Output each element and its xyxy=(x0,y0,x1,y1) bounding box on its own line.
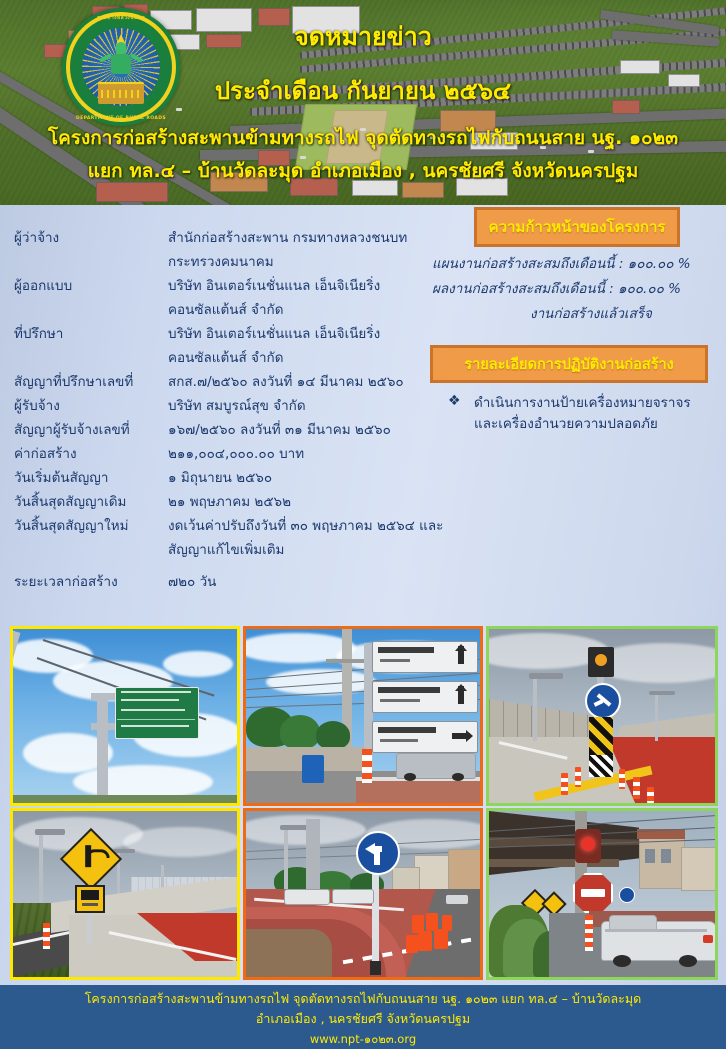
info-value-contract-end-new: งดเว้นค่าปรับถึงวันที่ ๓๐ พฤษภาคม ๒๕๖๔ แ… xyxy=(168,514,443,536)
info-label-contract-end-new: วันสิ้นสุดสัญญาใหม่ xyxy=(14,514,129,536)
page-footer: โครงการก่อสร้างสะพานข้ามทางรถไฟ จุดตัดทา… xyxy=(0,985,726,1049)
info-value-contract-end-new-cont: สัญญาแก้ไขเพิ่มเติม xyxy=(168,538,284,560)
info-value-employer-cont: กระทรวงคมนาคม xyxy=(168,250,274,272)
newsletter-page: กรมทางหลวงชนบท DEPARTMENT OF RURAL ROADS… xyxy=(0,0,726,1049)
info-label-contract-start: วันเริ่มต้นสัญญา xyxy=(14,466,108,488)
progress-status-line: งานก่อสร้างแล้วเสร็จ xyxy=(530,302,652,324)
project-title-line1: โครงการก่อสร้างสะพานข้ามทางรถไฟ จุดตัดทา… xyxy=(0,123,726,153)
info-value-contract-end-original: ๒๑ พฤษภาคม ๒๕๖๒ xyxy=(168,490,291,512)
info-label-consultant-contract: สัญญาที่ปรึกษาเลขที่ xyxy=(14,370,133,392)
emblem-label-english: DEPARTMENT OF RURAL ROADS xyxy=(62,116,180,121)
floret-bullet-icon: ❖ xyxy=(448,393,461,409)
info-value-duration: ๗๒๐ วัน xyxy=(168,570,216,592)
newsletter-title: จดหมายข่าว xyxy=(0,17,726,57)
info-label-contract-end-original: วันสิ้นสุดสัญญาเดิม xyxy=(14,490,126,512)
info-value-contractor-contract: ๑๖๗/๒๕๖๐ ลงวันที่ ๓๑ มีนาคม ๒๕๖๐ xyxy=(168,418,391,440)
photo-stop-help-sign xyxy=(486,808,718,980)
photo-direction-signs xyxy=(243,626,483,806)
footer-project-line2: อำเภอเมือง , นครชัยศรี จังหวัดนครปฐม xyxy=(0,1009,726,1029)
progress-heading-label: ความก้าวหน้าของโครงการ xyxy=(489,215,666,239)
speed-limit-sign-icon xyxy=(75,885,105,913)
info-value-contract-start: ๑ มิถุนายน ๒๕๖๐ xyxy=(168,466,272,488)
info-label-duration: ระยะเวลาก่อสร้าง xyxy=(14,570,118,592)
details-heading-label: รายละเอียดการปฏิบัติงานก่อสร้าง xyxy=(464,353,673,376)
photo-overhead-green-sign xyxy=(10,626,240,806)
info-value-designer: บริษัท อินเตอร์เนชั่นแนล เอ็นจิเนียริ่ง xyxy=(168,274,380,296)
info-value-consultant: บริษัท อินเตอร์เนชั่นแนล เอ็นจิเนียริ่ง xyxy=(168,322,380,344)
photo-curve-warning-sign xyxy=(10,808,240,980)
info-label-contractor: ผู้รับจ้าง xyxy=(14,394,60,416)
project-title-line2: แยก ทล.๔ – บ้านวัดละมุด อำเภอเมือง , นคร… xyxy=(0,156,726,186)
newsletter-month: ประจำเดือน กันยายน ๒๕๖๔ xyxy=(0,71,726,110)
progress-plan-line: แผนงานก่อสร้างสะสมถึงเดือนนี้ : ๑๐๐.๐๐ % xyxy=(432,252,691,274)
info-label-contractor-contract: สัญญาผู้รับจ้างเลขที่ xyxy=(14,418,130,440)
traffic-light-icon xyxy=(588,647,614,677)
red-traffic-light-icon xyxy=(575,829,601,863)
info-value-construction-cost: ๒๑๑,๐๐๔,๐๐๐.๐๐ บาท xyxy=(168,442,304,464)
footer-website-url[interactable]: www.npt-๑๐๒๓.org xyxy=(0,1031,726,1049)
footer-project-line1: โครงการก่อสร้างสะพานข้ามทางรถไฟ จุดตัดทา… xyxy=(0,989,726,1009)
info-value-employer: สำนักก่อสร้างสะพาน กรมทางหลวงชนบท xyxy=(168,226,407,248)
info-label-construction-cost: ค่าก่อสร้าง xyxy=(14,442,77,464)
details-heading-box: รายละเอียดการปฏิบัติงานก่อสร้าง xyxy=(430,345,708,383)
blue-arrow-sign-icon xyxy=(585,683,621,719)
turn-left-sign-icon xyxy=(356,831,400,875)
progress-heading-box: ความก้าวหน้าของโครงการ xyxy=(474,207,680,247)
info-value-consultant-cont: คอนซัลแต้นส์ จำกัด xyxy=(168,346,283,368)
info-value-contractor: บริษัท สมบูรณ์สุข จำกัด xyxy=(168,394,306,416)
photo-turn-left-sign xyxy=(243,808,483,980)
info-value-consultant-contract: สกส.๗/๒๕๖๐ ลงวันที่ ๑๔ มีนาคม ๒๕๖๐ xyxy=(168,370,404,392)
stop-help-sign-icon xyxy=(573,873,613,913)
info-value-designer-cont: คอนซัลแต้นส์ จำกัด xyxy=(168,298,283,320)
info-label-consultant: ที่ปรึกษา xyxy=(14,322,63,344)
photo-gallery xyxy=(0,624,726,982)
progress-actual-line: ผลงานก่อสร้างสะสมถึงเดือนนี้ : ๑๐๐.๐๐ % xyxy=(432,277,681,299)
details-bullet-line1: ดำเนินการงานป้ายเครื่องหมายจราจร xyxy=(474,395,691,411)
photo-bridge-traffic-light xyxy=(486,626,718,806)
info-label-employer: ผู้ว่าจ้าง xyxy=(14,226,59,248)
details-bullet-line2: และเครื่องอำนวยความปลอดภัย xyxy=(474,416,658,432)
info-label-designer: ผู้ออกแบบ xyxy=(14,274,72,296)
header-banner: กรมทางหลวงชนบท DEPARTMENT OF RURAL ROADS… xyxy=(0,0,726,205)
